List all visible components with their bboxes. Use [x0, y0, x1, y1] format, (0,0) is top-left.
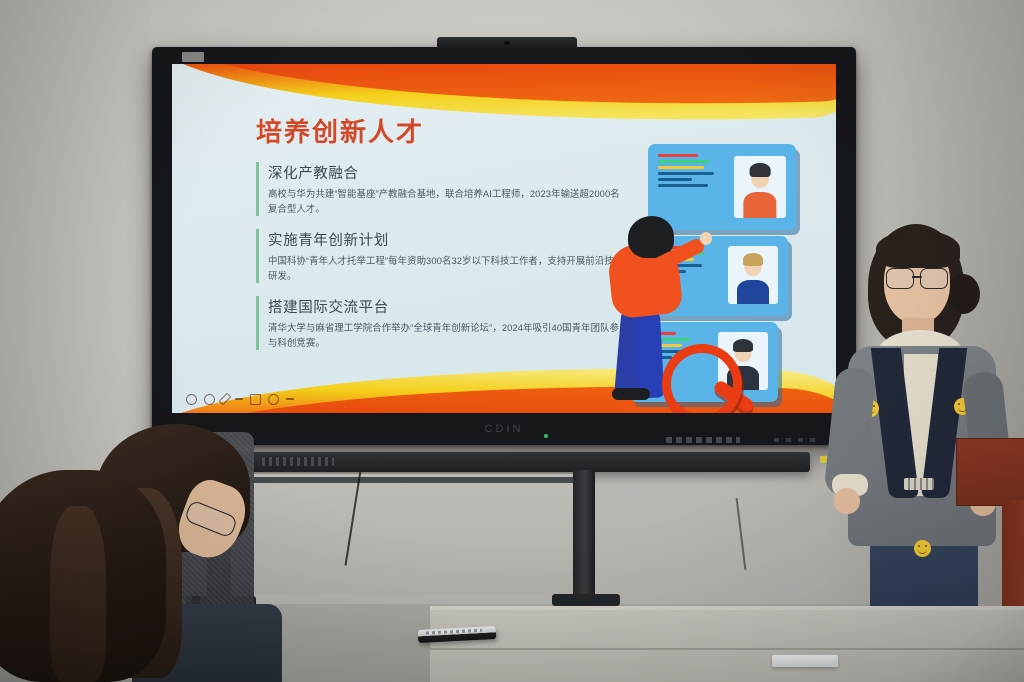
slide-section-2: 实施青年创新计划 中国科协“青年人才托举工程”每年资助300名32岁以下科技工作… [256, 229, 628, 283]
glasses-icon [886, 268, 948, 287]
candidate-photo-1 [734, 156, 786, 218]
cardigan-buttons [904, 478, 934, 490]
presenter-hand-left [834, 488, 860, 514]
laser-pointer-icon[interactable] [235, 398, 243, 400]
slide-overview-icon[interactable] [250, 394, 261, 405]
smartphone[interactable] [772, 655, 838, 667]
more-options-icon[interactable] [286, 398, 294, 400]
display-screen[interactable]: 培养创新人才 深化产教融合 高校与华为共建“智能基座”产教融合基地，联合培养AI… [172, 64, 836, 413]
magnifier-icon [662, 344, 738, 413]
remote-buttons[interactable] [426, 629, 482, 635]
audience-hair-strand [50, 506, 106, 682]
stand-column-right [573, 470, 595, 598]
display-corner-label [182, 52, 204, 62]
camera-lens-icon [504, 41, 510, 45]
presenter-hair-bun [946, 274, 980, 314]
display-brand-logo: CDIN [485, 423, 524, 435]
smiley-patch-icon [914, 540, 931, 557]
display-button-row[interactable] [666, 437, 740, 443]
slide-title: 培养创新人才 [256, 112, 424, 149]
lecture-room-scene: 培养创新人才 深化产教融合 高校与华为共建“智能基座”产教融合基地，联合培养AI… [0, 0, 1024, 682]
display-camera-bar [437, 37, 577, 48]
slide-section-1: 深化产教融合 高校与华为共建“智能基座”产教融合基地，联合培养AI工程师，202… [256, 162, 628, 216]
power-led-icon [544, 434, 548, 438]
next-slide-icon[interactable] [204, 394, 215, 405]
previous-slide-icon[interactable] [186, 394, 197, 405]
talent-selection-illustration [596, 144, 810, 413]
stand-support-bar [225, 477, 577, 483]
slide-content-blocks: 深化产教融合 高校与华为共建“智能基座”产教融合基地，联合培养AI工程师，202… [256, 162, 628, 363]
soundbar-grille [262, 457, 334, 466]
section-body: 中国科协“青年人才托举工程”每年资助300名32岁以下科技工作者，支持开展前沿技… [268, 254, 628, 283]
presentation-toolbar[interactable] [186, 393, 294, 405]
table-seam [430, 648, 1024, 650]
table-edge [430, 606, 1024, 610]
interactive-flat-panel-display[interactable]: 培养创新人才 深化产教融合 高校与华为共建“智能基座”产教融合基地，联合培养AI… [152, 47, 856, 445]
section-heading: 深化产教融合 [268, 162, 628, 183]
zoom-icon[interactable] [268, 394, 279, 405]
pen-icon[interactable] [219, 393, 232, 406]
display-port-row [774, 438, 820, 442]
powerpoint-slide[interactable]: 培养创新人才 深化产教融合 高校与华为共建“智能基座”产教融合基地，联合培养AI… [172, 64, 836, 413]
section-body: 高校与华为共建“智能基座”产教融合基地，联合培养AI工程师，2023年输送超20… [268, 187, 628, 216]
section-heading: 实施青年创新计划 [268, 229, 628, 250]
conference-table [430, 606, 1024, 682]
stand-back-panel [231, 474, 573, 594]
audience-member-1 [0, 470, 184, 682]
card-text-lines [658, 154, 716, 190]
wooden-podium [956, 438, 1024, 506]
presenter-fringe [876, 230, 960, 268]
candidate-photo-2 [728, 246, 778, 304]
stand-foot-right [552, 594, 620, 606]
presenter-woman [826, 222, 1012, 622]
section-heading: 搭建国际交流平台 [268, 296, 628, 317]
slide-section-3: 搭建国际交流平台 清华大学与麻省理工学院合作举办“全球青年创新论坛”，2024年… [256, 296, 628, 350]
section-body: 清华大学与麻省理工学院合作举办“全球青年创新论坛”，2024年吸引40国青年团队… [268, 321, 628, 350]
